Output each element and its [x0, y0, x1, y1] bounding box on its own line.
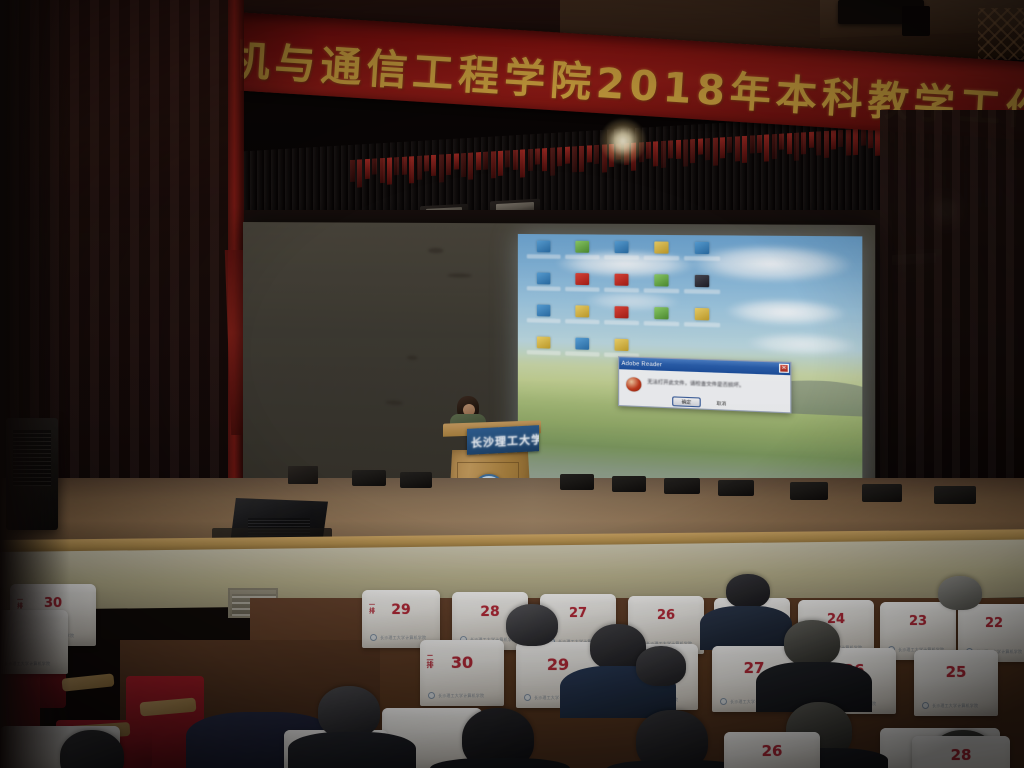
red-light-segment	[380, 158, 385, 183]
dialog-message: 无法打开此文件，请检查文件是否损坏。	[647, 379, 785, 392]
red-light-segment	[727, 137, 732, 153]
screen-blemish	[407, 356, 418, 361]
audience-head	[636, 646, 686, 686]
seat-logo: 长沙理工大学计算机学院	[922, 702, 978, 709]
dialog-title-text: Adobe Reader	[622, 360, 663, 368]
red-light-segment	[365, 159, 370, 179]
audience-shoulders	[288, 732, 416, 768]
desktop-icon-label	[527, 350, 561, 355]
audience-head	[938, 576, 982, 610]
desktop-icon[interactable]	[695, 275, 709, 287]
seat-number: 28	[912, 746, 1010, 764]
screen-blemish	[428, 248, 443, 253]
red-light-segment	[372, 158, 377, 174]
red-light-segment	[794, 133, 799, 161]
desktop-icon[interactable]	[654, 274, 668, 286]
red-light-segment	[498, 151, 503, 176]
red-light-segment	[661, 141, 666, 168]
red-light-segment	[409, 156, 414, 183]
desktop-icon[interactable]	[654, 307, 668, 319]
red-light-segment	[772, 134, 777, 159]
red-light-segment	[476, 152, 481, 170]
red-light-segment	[542, 148, 547, 171]
red-light-segment	[757, 135, 762, 153]
desktop-icon-label	[644, 288, 680, 293]
red-light-segment	[424, 155, 429, 171]
desktop-icon[interactable]	[537, 336, 551, 348]
red-light-segment	[779, 133, 784, 149]
seat-logo: 长沙理工大学计算机学院	[370, 634, 426, 641]
red-light-segment	[505, 150, 510, 167]
seat-row-label: 二排	[425, 655, 435, 670]
red-light-segment	[491, 151, 496, 178]
wallpaper-cloud	[725, 298, 847, 328]
red-light-segment	[439, 154, 444, 182]
desktop-icon-label	[527, 318, 561, 323]
red-light-segment	[853, 129, 858, 155]
desktop-icon-label	[604, 288, 639, 293]
red-light-segment	[742, 136, 747, 163]
seat-logo-emblem-icon	[524, 694, 531, 701]
audience-head	[506, 604, 558, 646]
red-light-segment	[705, 138, 710, 160]
seat-logo-text: 长沙理工大学计算机学院	[380, 635, 426, 641]
desktop-icon[interactable]	[615, 274, 629, 286]
red-light-segment	[446, 154, 451, 175]
red-light-segment	[676, 140, 681, 159]
red-light-segment	[824, 131, 829, 158]
desktop-icon[interactable]	[615, 306, 629, 318]
red-light-segment	[846, 129, 851, 155]
stage-curtain-right	[880, 110, 1024, 530]
desktop-icon[interactable]	[575, 241, 589, 253]
error-icon	[626, 377, 641, 392]
desktop-icon-label	[644, 256, 680, 261]
seat-number: 23	[880, 614, 956, 629]
wallpaper-cloud	[747, 331, 857, 357]
red-light-segment	[402, 157, 407, 175]
red-light-segment	[594, 145, 599, 164]
red-light-segment	[646, 142, 651, 159]
desktop-icon[interactable]	[537, 272, 551, 284]
audience-head	[318, 686, 380, 738]
red-light-segment	[394, 157, 399, 175]
podium-plaque-text: 长沙理工大学	[471, 431, 539, 451]
red-light-segment	[735, 136, 740, 161]
seat-logo-text: 长沙理工大学计算机学院	[932, 703, 978, 709]
desktop-icon-label	[527, 286, 561, 291]
red-light-segment	[461, 153, 466, 177]
desktop-icon-label	[644, 321, 680, 326]
red-light-segment	[809, 132, 814, 148]
stage-floor-light	[612, 476, 646, 492]
red-light-segment	[431, 155, 436, 176]
red-light-segment	[690, 139, 695, 163]
podium-plaque: 长沙理工大学	[467, 425, 539, 455]
desktop-icon-label	[565, 351, 599, 356]
desktop-icon-label	[565, 287, 599, 292]
red-light-segment	[683, 139, 688, 166]
stage-floor-light	[664, 478, 700, 494]
desktop-icon[interactable]	[615, 339, 629, 351]
red-light-segment	[653, 141, 658, 166]
audience-shoulders	[430, 758, 570, 768]
seat-row-label: 一排	[367, 603, 377, 616]
red-light-segment	[801, 132, 806, 154]
close-icon[interactable]: ✕	[779, 364, 789, 373]
spotlight-beam	[600, 118, 646, 164]
red-light-segment	[528, 149, 533, 171]
red-light-segment	[565, 147, 570, 164]
red-light-segment	[831, 130, 836, 149]
red-light-segment	[535, 148, 540, 164]
red-light-segment	[816, 131, 821, 155]
red-light-segment	[587, 145, 592, 162]
modal-dialog[interactable]: Adobe Reader ✕ 无法打开此文件，请检查文件是否损坏。 确定 取消	[618, 356, 791, 413]
dialog-cancel-button[interactable]: 取消	[707, 398, 736, 409]
desktop-icon-label	[684, 256, 720, 261]
stage-floor-light	[718, 480, 754, 496]
desktop-icon[interactable]	[537, 240, 551, 252]
seat-logo-emblem-icon	[428, 692, 435, 699]
red-light-segment	[513, 150, 518, 170]
desktop-icon[interactable]	[695, 242, 709, 254]
seat-number: 22	[958, 616, 1024, 631]
red-light-segment	[557, 147, 562, 166]
wallpaper-cloud	[691, 244, 852, 284]
red-light-segment	[668, 140, 673, 158]
red-light-segment	[579, 146, 584, 172]
stage-floor-light	[352, 470, 386, 486]
seat-logo: 长沙理工大学计算机学院	[428, 692, 484, 699]
desktop-icon[interactable]	[537, 304, 551, 316]
stage-floor-light	[790, 482, 828, 500]
red-light-segment	[520, 149, 525, 177]
red-light-segment	[764, 134, 769, 161]
banner-left-shadow	[0, 0, 70, 768]
desktop-icon[interactable]	[695, 308, 709, 320]
desktop-icon-label	[527, 254, 561, 259]
seat-number: 26	[628, 608, 704, 623]
desktop-icon-label	[684, 322, 720, 327]
stage-floor-light	[400, 472, 432, 488]
red-light-segment	[572, 146, 577, 172]
red-light-segment	[468, 152, 473, 179]
desktop-icon[interactable]	[575, 273, 589, 285]
seat-logo-emblem-icon	[922, 702, 929, 709]
desktop-icon-label	[565, 319, 599, 324]
seat-logo-emblem-icon	[370, 634, 377, 641]
red-light-segment	[713, 138, 718, 166]
red-light-segment	[357, 159, 362, 187]
desktop-icon-label	[565, 255, 599, 260]
desktop-icon-label	[604, 255, 639, 260]
red-light-segment	[720, 137, 725, 158]
seat-cover: 28	[912, 736, 1010, 768]
ceiling-speaker-secondary-icon	[902, 6, 930, 36]
auditorium-photo: 算机与通信工程学院2018年本科教学工作 Adobe Reader	[0, 0, 1024, 768]
red-light-segment	[350, 160, 355, 182]
desktop-icon-label	[684, 289, 720, 294]
seat-logo-emblem-icon	[720, 698, 727, 705]
seat-number: 26	[724, 742, 820, 760]
red-light-segment	[750, 135, 755, 153]
seat-cover: 30二排长沙理工大学计算机学院	[420, 640, 504, 706]
red-light-segment	[787, 133, 792, 154]
stage-floor-light	[934, 486, 976, 504]
desktop-icon-label	[604, 320, 639, 325]
stage-floor-light	[862, 484, 902, 502]
audience-seating: 30一排长沙理工大学计算机学院长沙理工大学计算机学院29一排长沙理工大学计算机学…	[0, 580, 1024, 768]
dialog-body: 无法打开此文件，请检查文件是否损坏。 确定 取消	[619, 369, 790, 413]
red-light-segment	[454, 153, 459, 169]
seat-logo-text: 长沙理工大学计算机学院	[438, 693, 484, 699]
desktop-icon[interactable]	[575, 305, 589, 317]
red-light-segment	[868, 128, 873, 148]
dialog-ok-button[interactable]: 确定	[672, 396, 701, 407]
stage-amp-box	[288, 466, 318, 484]
seat-cover: 25长沙理工大学计算机学院	[914, 650, 998, 716]
red-light-segment	[417, 156, 422, 180]
stage-floor-light	[560, 474, 594, 490]
red-light-segment	[387, 157, 392, 184]
red-light-segment	[483, 152, 488, 170]
red-light-segment	[698, 138, 703, 154]
desktop-icon[interactable]	[654, 241, 668, 253]
seat-number: 25	[914, 663, 998, 681]
red-light-segment	[861, 128, 866, 145]
desktop-icon[interactable]	[615, 241, 629, 253]
audience-head	[784, 620, 840, 666]
red-light-segment	[838, 130, 843, 147]
red-light-segment	[550, 147, 555, 175]
audience-shoulders	[700, 606, 792, 650]
seat-cover: 26	[724, 732, 820, 768]
desktop-icon[interactable]	[575, 338, 589, 350]
audience-head	[726, 574, 770, 608]
